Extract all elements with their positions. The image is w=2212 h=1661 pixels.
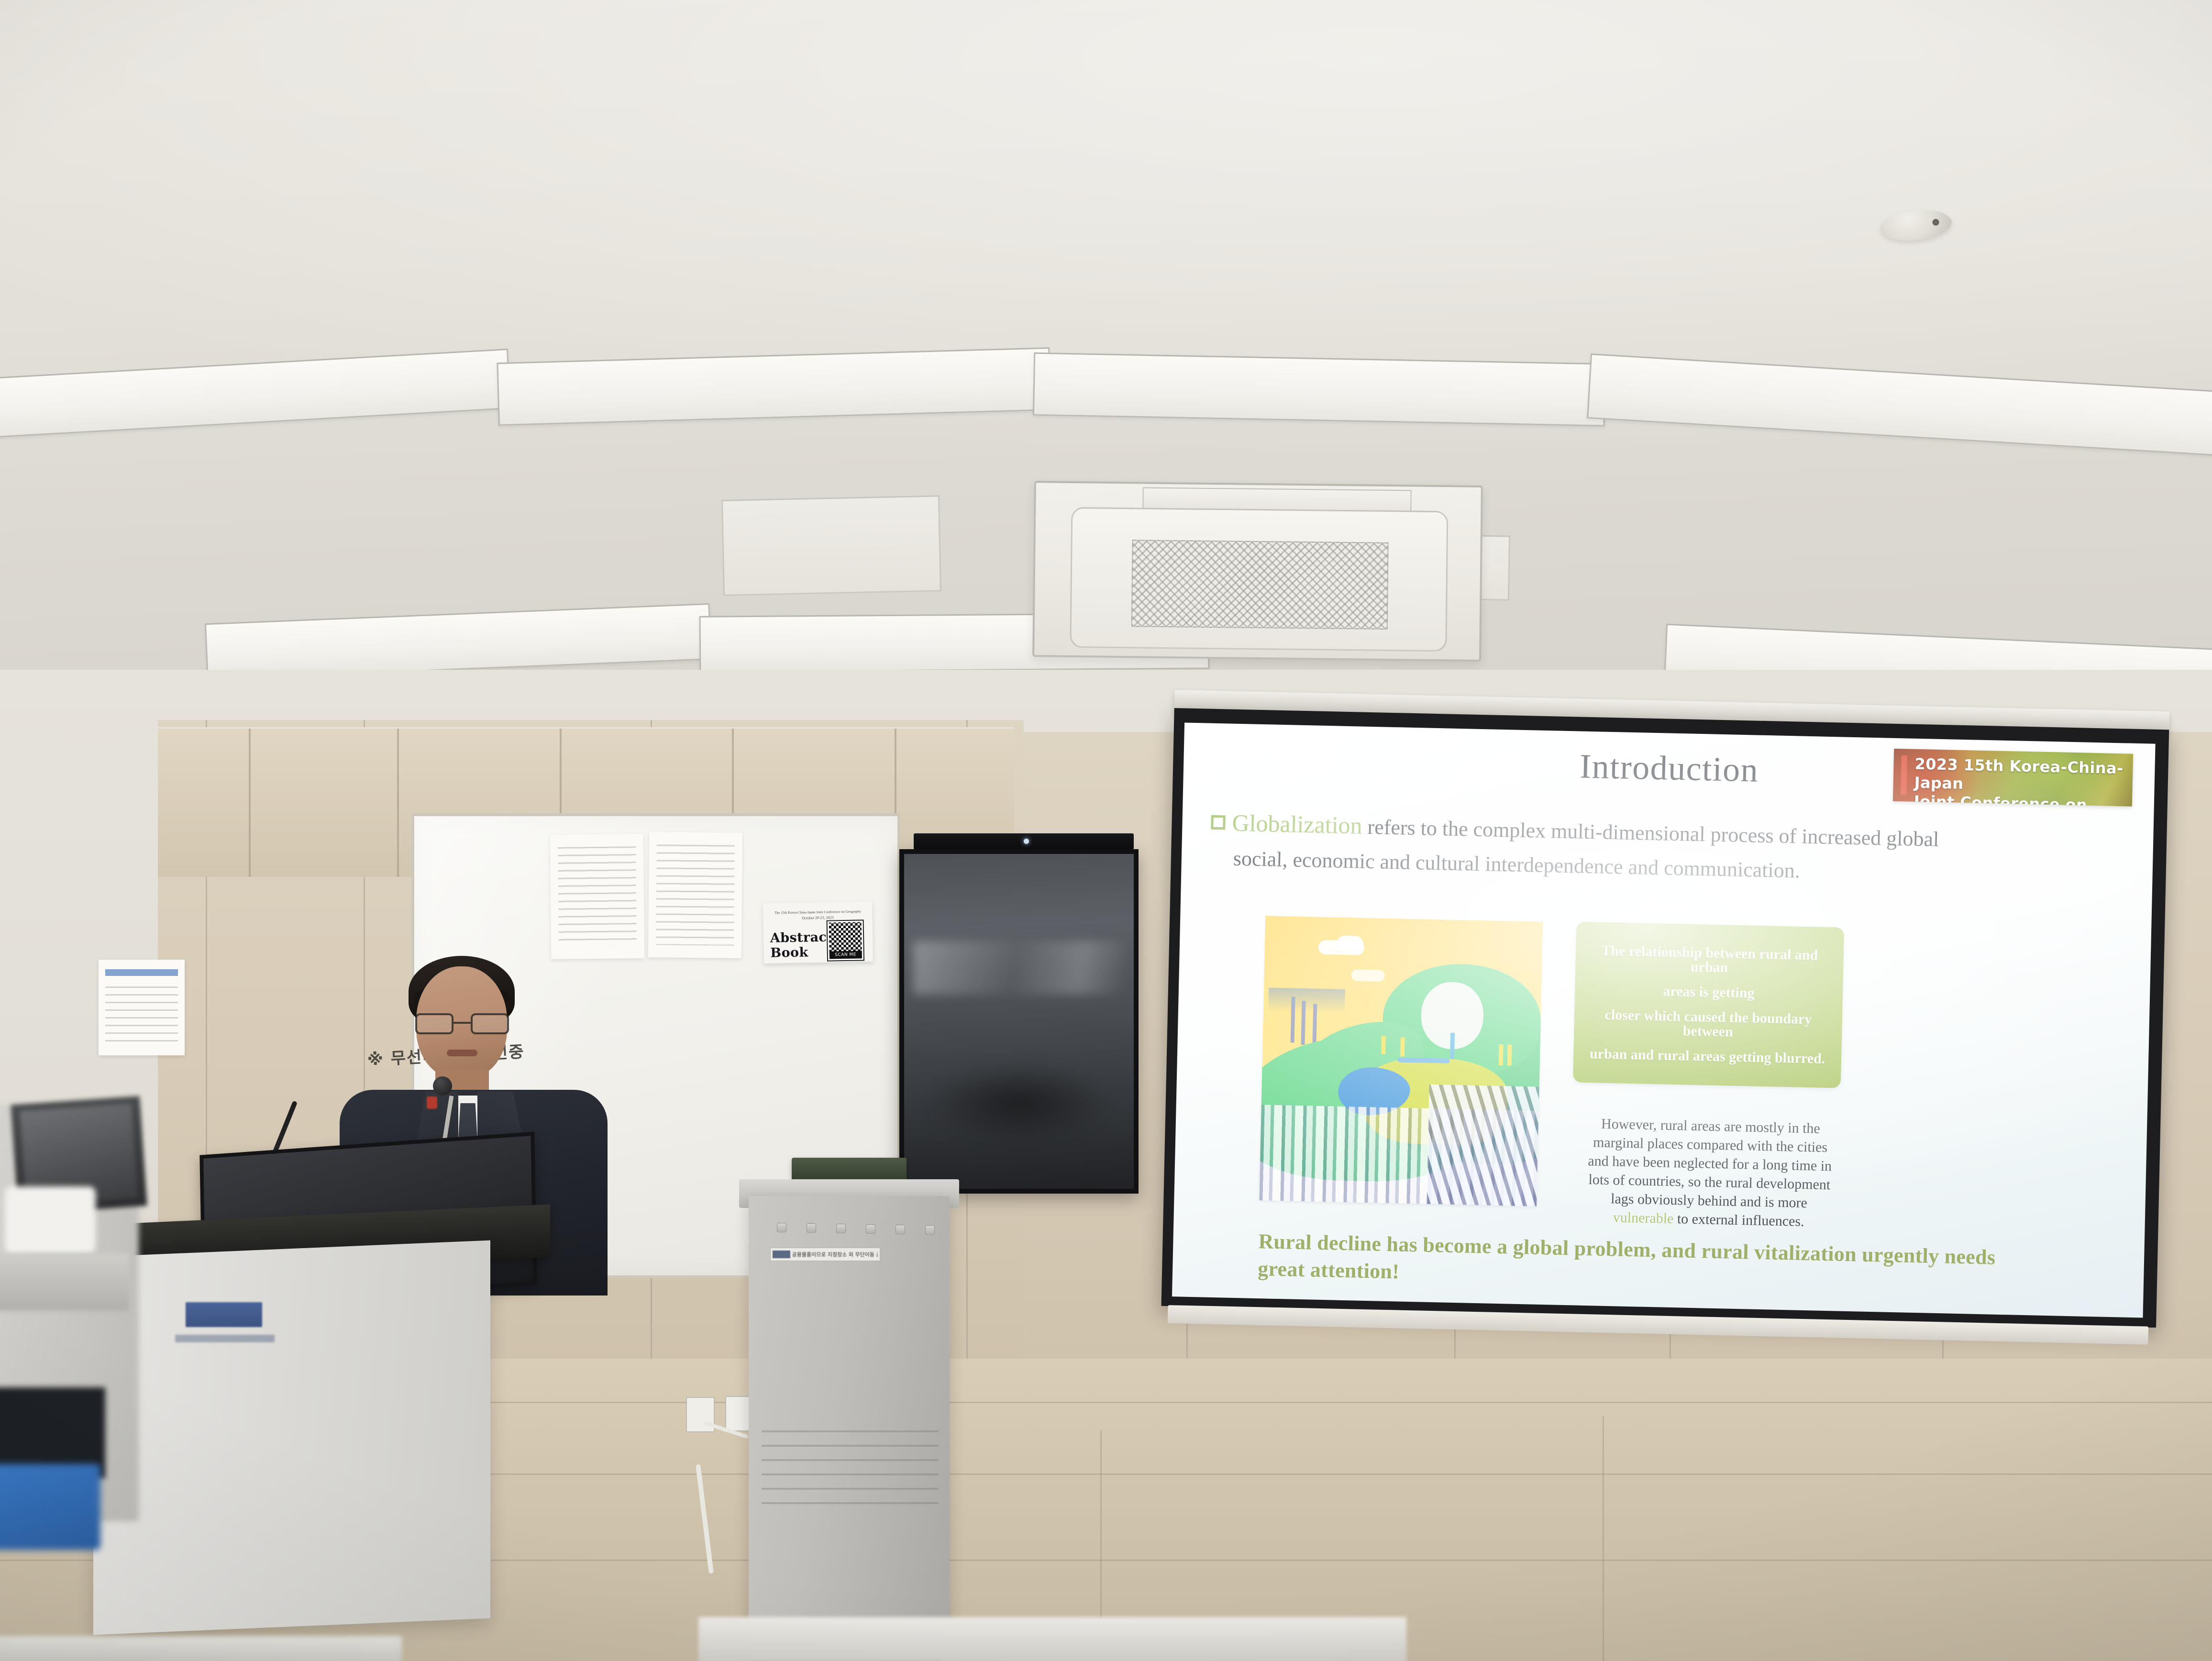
foreground-table-edge bbox=[698, 1617, 1406, 1661]
bullet-keyword: Globalization bbox=[1232, 809, 1362, 839]
badge-text: 2023 15th Korea-China-Japan Joint Confer… bbox=[1913, 755, 2128, 807]
glasses-bridge bbox=[453, 1022, 471, 1024]
microphone-head-icon[interactable] bbox=[433, 1076, 452, 1096]
display-reflection bbox=[927, 1062, 1111, 1142]
square-bullet-icon bbox=[1211, 815, 1226, 830]
slide-illustration bbox=[1259, 916, 1543, 1207]
microphone-indicator bbox=[427, 1096, 437, 1109]
qr-code-pattern bbox=[829, 922, 862, 952]
cart-label-text: 공용물품이므로 지정장소 외 무단이동 금지 bbox=[792, 1251, 878, 1258]
slide-closing-statement: Rural decline has become a global proble… bbox=[1258, 1228, 2072, 1300]
display-reflection bbox=[913, 941, 1125, 995]
cart-knob bbox=[777, 1223, 786, 1232]
cart-knob bbox=[836, 1224, 846, 1233]
green-box-line: urban and rural areas getting blurred. bbox=[1590, 1047, 1825, 1066]
glasses-lens-left bbox=[415, 1013, 453, 1034]
green-box-line: The relationship between rural and urban bbox=[1588, 943, 1831, 977]
podium-logo-subtext bbox=[175, 1335, 275, 1342]
foreground-blue-object bbox=[0, 1464, 100, 1550]
cart-label-logo-icon bbox=[773, 1251, 790, 1258]
side-poster-text bbox=[105, 986, 177, 1044]
conference-logo-badge: 2023 15th Korea-China-Japan Joint Confer… bbox=[1893, 749, 2133, 807]
floor-plank-line bbox=[1603, 1416, 1604, 1661]
program-sheet bbox=[550, 834, 645, 959]
figure-cuff-stripe bbox=[1507, 1044, 1512, 1065]
bullet-rest-line1: refers to the complex multi-dimensional … bbox=[1367, 815, 1939, 851]
side-poster bbox=[99, 960, 185, 1055]
badge-accent-bar bbox=[1901, 755, 1907, 795]
presenter-glasses-icon bbox=[415, 1013, 509, 1034]
ac-inner-panel bbox=[1070, 507, 1448, 652]
city-buildings-right bbox=[1427, 1085, 1539, 1207]
classroom-photo-scene: ※ 무선마이크 충전중 필요시 학과 사무실로 유도마이크 대여요망 The 1… bbox=[0, 0, 2212, 1661]
distant-skyline bbox=[1268, 987, 1345, 1013]
green-box-line: closer which caused the boundary between bbox=[1586, 1008, 1830, 1041]
av-cart-warning-label: 공용물품이므로 지정장소 외 무단이동 금지 bbox=[770, 1248, 880, 1261]
projection-screen-frame: Introduction 2023 15th Korea-China-Japan… bbox=[1161, 708, 2169, 1328]
podium[interactable] bbox=[93, 1240, 490, 1635]
presenter-mouth bbox=[447, 1050, 477, 1056]
soundbar[interactable] bbox=[914, 833, 1134, 850]
side-poster-band bbox=[105, 969, 177, 976]
av-cart-vents bbox=[762, 1430, 939, 1517]
cabinet-seam bbox=[397, 729, 399, 877]
cabinet-seam bbox=[249, 729, 251, 877]
cloud-shape bbox=[1351, 969, 1385, 982]
projection-screen-assembly: Introduction 2023 15th Korea-China-Japan… bbox=[1161, 703, 2212, 1369]
foreground-shelf bbox=[0, 1253, 129, 1311]
wall-outlet[interactable] bbox=[686, 1397, 715, 1432]
figure-cuff-stripe bbox=[1499, 1044, 1504, 1065]
cart-knob bbox=[866, 1224, 875, 1234]
cart-knob bbox=[925, 1225, 935, 1235]
slide-paragraph: However, rural areas are mostly in the m… bbox=[1574, 1114, 1845, 1232]
ceiling-air-conditioner bbox=[1032, 481, 1483, 662]
qr-code-icon[interactable]: SCAN ME bbox=[826, 919, 864, 961]
ceiling-light-panel bbox=[1033, 353, 1606, 427]
ac-grille bbox=[1131, 540, 1388, 630]
glasses-lens-right bbox=[471, 1013, 509, 1034]
cart-knob bbox=[896, 1225, 905, 1234]
foreground-white-object bbox=[5, 1186, 96, 1253]
figure-drawstring bbox=[1400, 1037, 1405, 1056]
green-callout-box: The relationship between rural and urban… bbox=[1573, 921, 1844, 1088]
program-sheet-text bbox=[558, 846, 637, 947]
program-sheet-text bbox=[656, 844, 735, 945]
badge-line-1: 2023 15th Korea-China-Japan bbox=[1914, 755, 2128, 797]
cart-knob bbox=[807, 1223, 816, 1233]
cloud-shape bbox=[1337, 936, 1364, 952]
wall-display[interactable] bbox=[899, 849, 1139, 1194]
podium-logo bbox=[186, 1302, 262, 1327]
av-cart[interactable] bbox=[749, 1196, 950, 1655]
program-sheet bbox=[648, 832, 742, 958]
green-box-line: areas is getting bbox=[1663, 984, 1755, 1000]
presentation-slide: Introduction 2023 15th Korea-China-Japan… bbox=[1172, 722, 2156, 1318]
figure-drawstring bbox=[1381, 1036, 1386, 1054]
qr-scan-me-label: SCAN ME bbox=[829, 951, 862, 959]
paragraph-highlight: vulnerable bbox=[1613, 1209, 1673, 1227]
ceiling-access-hatch bbox=[721, 495, 941, 596]
abstract-book-card: The 15th Korea-China-Japan Joint Confere… bbox=[763, 901, 873, 963]
foreground-table-edge bbox=[0, 1636, 402, 1661]
